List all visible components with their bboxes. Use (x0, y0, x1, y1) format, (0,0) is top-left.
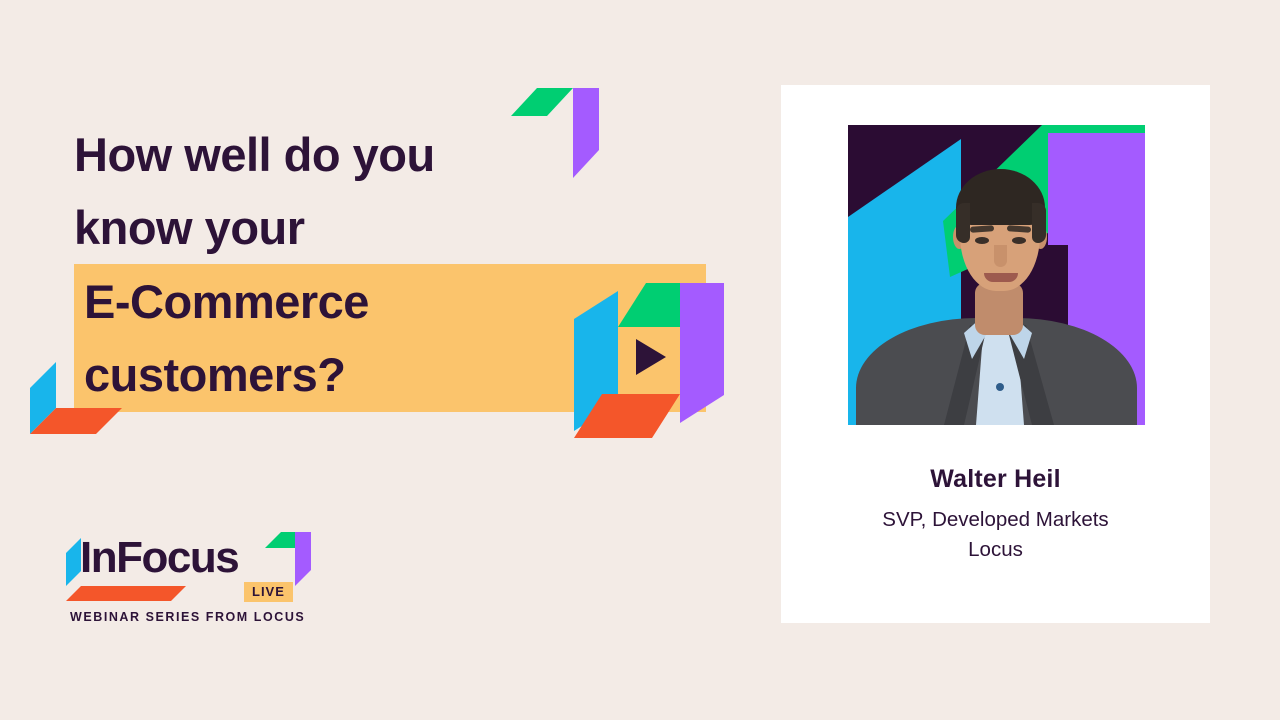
webinar-title-slide: How well do you know your E-Commerce cus… (0, 0, 1280, 720)
speaker-role: SVP, Developed Markets (781, 505, 1210, 535)
headline-line-2: know your (74, 191, 694, 264)
portrait-nose (994, 245, 1007, 267)
cube-right-face (680, 283, 724, 423)
portrait-mouth (984, 273, 1018, 282)
speaker-title-block: SVP, Developed Markets Locus (781, 505, 1210, 565)
speaker-name: Walter Heil (781, 465, 1210, 494)
portrait-shirt-button (996, 383, 1004, 391)
play-triangle-icon (636, 339, 666, 375)
portrait-hair-side-left (956, 203, 970, 243)
bracket-top-face (511, 88, 573, 116)
headline-line-2-row: know your (74, 191, 694, 264)
corner-bracket-bottom-left-icon (30, 362, 122, 434)
infocus-logo: InFocus LIVE WEBINAR SERIES FROM LOCUS (66, 530, 316, 630)
cube-play-icon (574, 283, 724, 438)
portrait-hair-side-right (1032, 203, 1046, 243)
speaker-photo (848, 125, 1145, 425)
infocus-wordmark-text: InFocus (80, 532, 238, 584)
logo-bracket-bottom-face (66, 586, 186, 601)
logo-bracket-right-face (295, 532, 311, 586)
speaker-portrait (848, 125, 1145, 425)
headline-line-1-row: How well do you (74, 118, 694, 191)
infocus-wordmark-row: InFocus (66, 530, 316, 590)
live-badge: LIVE (244, 582, 293, 602)
logo-tagline: WEBINAR SERIES FROM LOCUS (70, 610, 305, 624)
portrait-eye-right (1012, 237, 1026, 244)
headline-line-1: How well do you (74, 118, 694, 191)
logo-bracket-left-face (66, 538, 81, 586)
portrait-eye-left (975, 237, 989, 244)
speaker-company: Locus (781, 535, 1210, 565)
speaker-card: Walter Heil SVP, Developed Markets Locus (781, 85, 1210, 623)
